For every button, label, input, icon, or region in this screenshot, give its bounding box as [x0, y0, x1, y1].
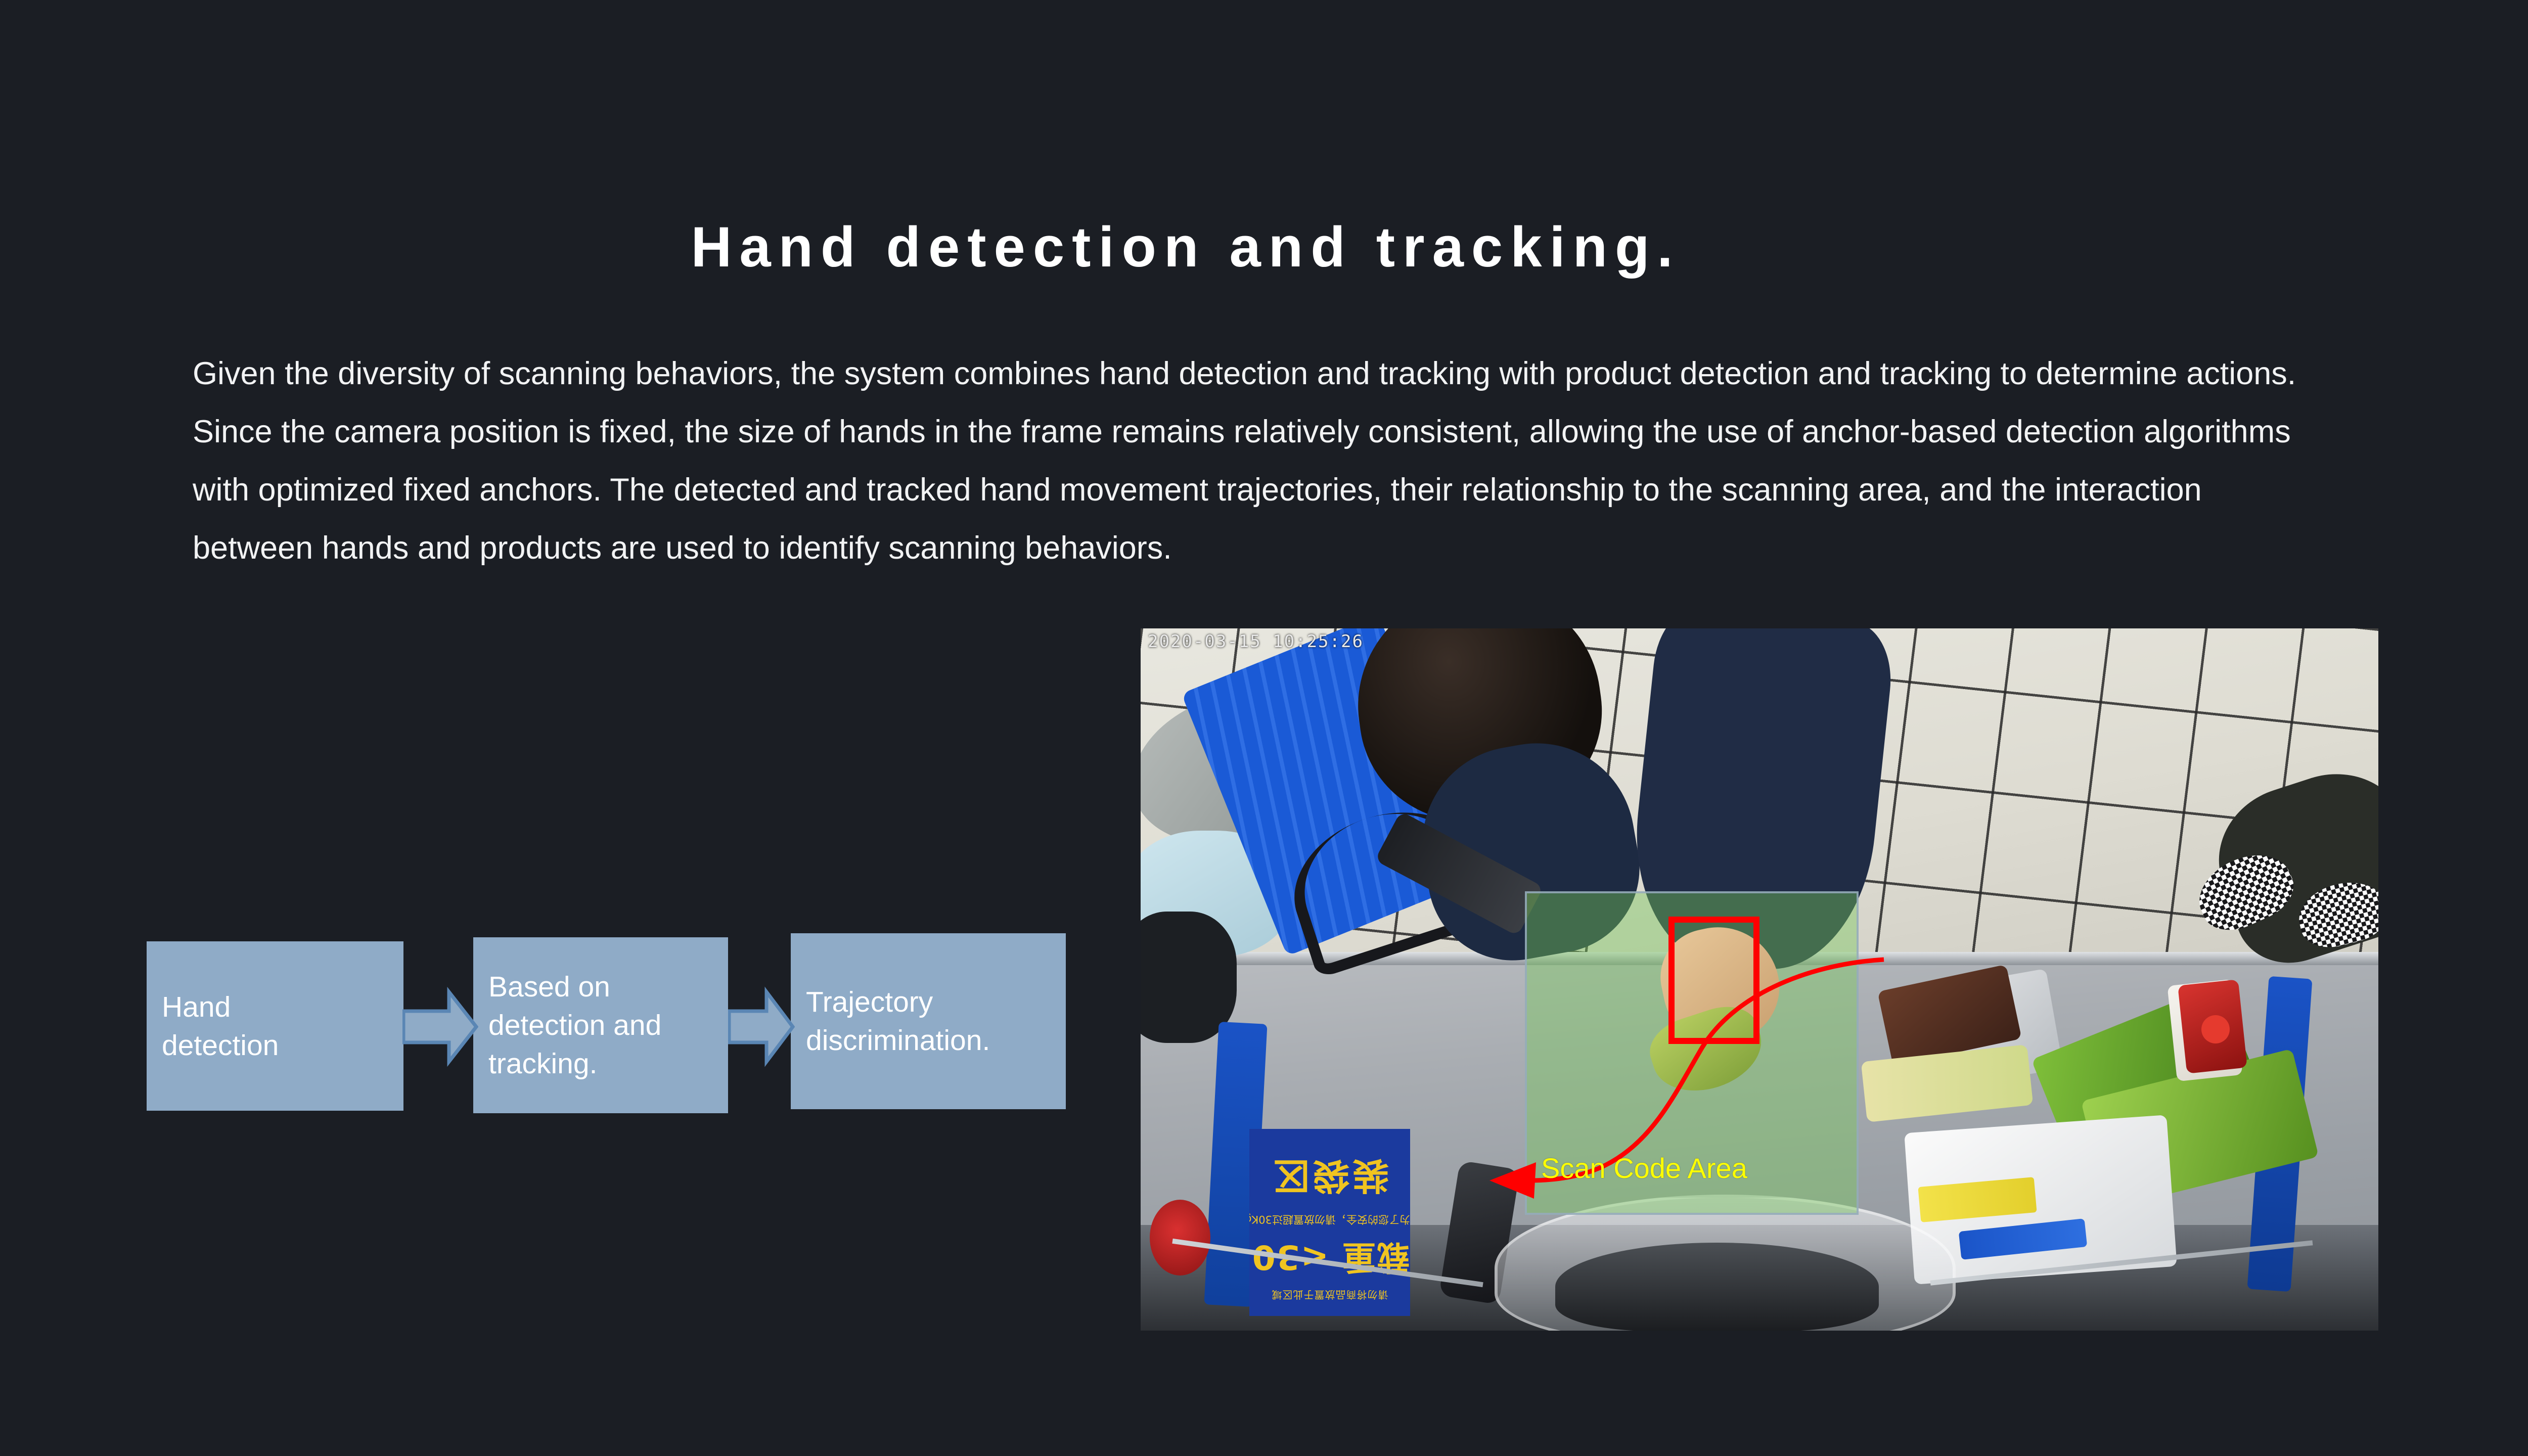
- flow-step-1-line-2: detection: [162, 1026, 388, 1065]
- arrow-right-icon-1[interactable]: [402, 986, 478, 1068]
- flow-step-hand-detection[interactable]: Hand detection: [147, 941, 403, 1111]
- paragraph-line-4: between hands and products are used to i…: [193, 519, 2352, 577]
- surveillance-frame[interactable]: 请勿将商品放置于此区域 载重 <30Kg 为了您的安全，请勿放置超过30Kg的物…: [1141, 628, 2378, 1331]
- flow-step-3-line-2: discrimination.: [806, 1021, 1051, 1060]
- paragraph-line-2: Since the camera position is fixed, the …: [193, 403, 2352, 461]
- page-title: Hand detection and tracking.: [0, 215, 2371, 280]
- video-timestamp: 2020-03-15 10:25:26: [1148, 631, 1364, 652]
- flow-step-2-line-2: detection and: [488, 1006, 713, 1044]
- hand-trajectory-curve: [1141, 628, 2378, 1331]
- arrow-right-icon-2[interactable]: [728, 986, 795, 1068]
- flow-step-2-line-1: Based on: [488, 968, 713, 1006]
- paragraph-line-1: Given the diversity of scanning behavior…: [193, 345, 2352, 403]
- paragraph-line-3: with optimized fixed anchors. The detect…: [193, 461, 2352, 519]
- flow-step-trajectory-discrimination[interactable]: Trajectory discrimination.: [791, 933, 1066, 1109]
- surveillance-scene: 请勿将商品放置于此区域 载重 <30Kg 为了您的安全，请勿放置超过30Kg的物…: [1141, 628, 2378, 1331]
- flow-step-2-line-3: tracking.: [488, 1044, 713, 1083]
- flow-step-1-line-1: Hand: [162, 988, 388, 1026]
- scan-code-area-label: Scan Code Area: [1541, 1154, 1747, 1182]
- flow-step-based-on-detection-and-tracking[interactable]: Based on detection and tracking.: [473, 937, 728, 1113]
- body-paragraph: Given the diversity of scanning behavior…: [193, 345, 2352, 577]
- flow-step-3-line-1: Trajectory: [806, 983, 1051, 1021]
